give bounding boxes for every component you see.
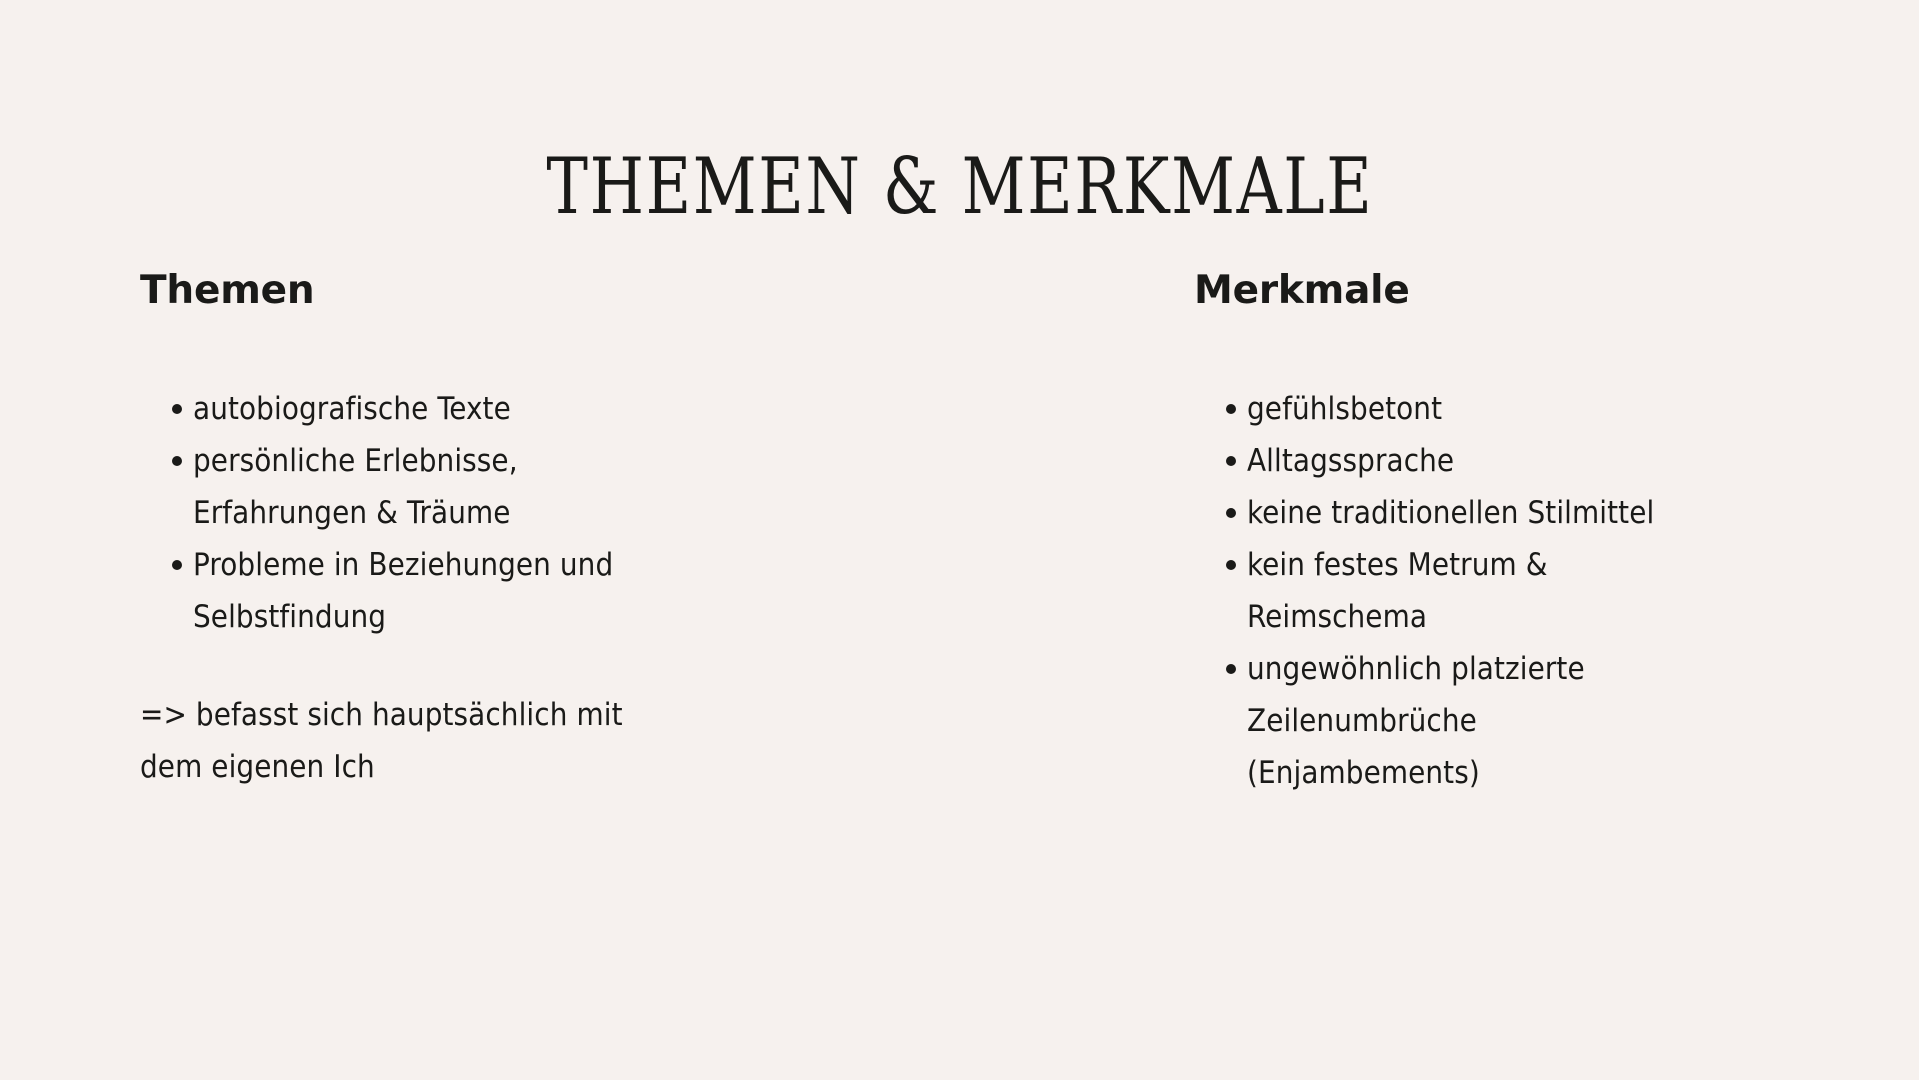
list-item: ungewöhnlich platzierte Zeilenumbrüche (… [1194,643,1894,799]
slide-root: THEMEN & MERKMALE Themen autobiografisch… [0,0,1919,1080]
bullet-dot-icon [172,456,182,466]
list-item: autobiografische Texte [140,383,970,435]
column-heading-themen: Themen [140,270,970,313]
bullet-dot-icon [1226,664,1236,674]
list-item: persönliche Erlebnisse, Erfahrungen & Tr… [140,435,970,539]
page-title: THEMEN & MERKMALE [546,148,1373,226]
bullet-dot-icon [1226,560,1236,570]
list-item-text: kein festes Metrum & Reimschema [1247,539,1894,643]
list-item: kein festes Metrum & Reimschema [1194,539,1894,643]
list-item-text: ungewöhnlich platzierte Zeilenumbrüche (… [1247,643,1894,799]
column-heading-merkmale: Merkmale [1194,270,1894,313]
list-item: Alltagssprache [1194,435,1894,487]
list-item-text: gefühlsbetont [1247,383,1894,435]
bullet-dot-icon [1226,456,1236,466]
column-themen: Themen autobiografische Texte persönlich… [140,270,970,824]
list-item-text: autobiografische Texte [193,383,970,435]
bullet-dot-icon [1226,404,1236,414]
column-merkmale: Merkmale gefühlsbetont Alltagssprache ke… [1194,270,1894,799]
title-container: THEMEN & MERKMALE [0,96,1919,279]
list-item: gefühlsbetont [1194,383,1894,435]
bullet-dot-icon [172,404,182,414]
list-item-text: Alltagssprache [1247,435,1894,487]
bullet-dot-icon [172,560,182,570]
list-item: Probleme in Beziehungen und Selbstfindun… [140,539,970,643]
list-item-text: Probleme in Beziehungen und Selbstfindun… [193,539,970,643]
list-item-text: keine traditionellen Stilmittel [1247,487,1894,539]
bullet-list-themen: autobiografische Texte persönliche Erleb… [140,383,970,643]
list-item: keine traditionellen Stilmittel [1194,487,1894,539]
conclusion-themen: => befasst sich hauptsächlich mit dem ei… [140,689,970,793]
list-item-text: persönliche Erlebnisse, Erfahrungen & Tr… [193,435,970,539]
two-column-layout: Themen autobiografische Texte persönlich… [0,270,1919,970]
bullet-dot-icon [1226,508,1236,518]
bullet-list-merkmale: gefühlsbetont Alltagssprache keine tradi… [1194,383,1894,799]
